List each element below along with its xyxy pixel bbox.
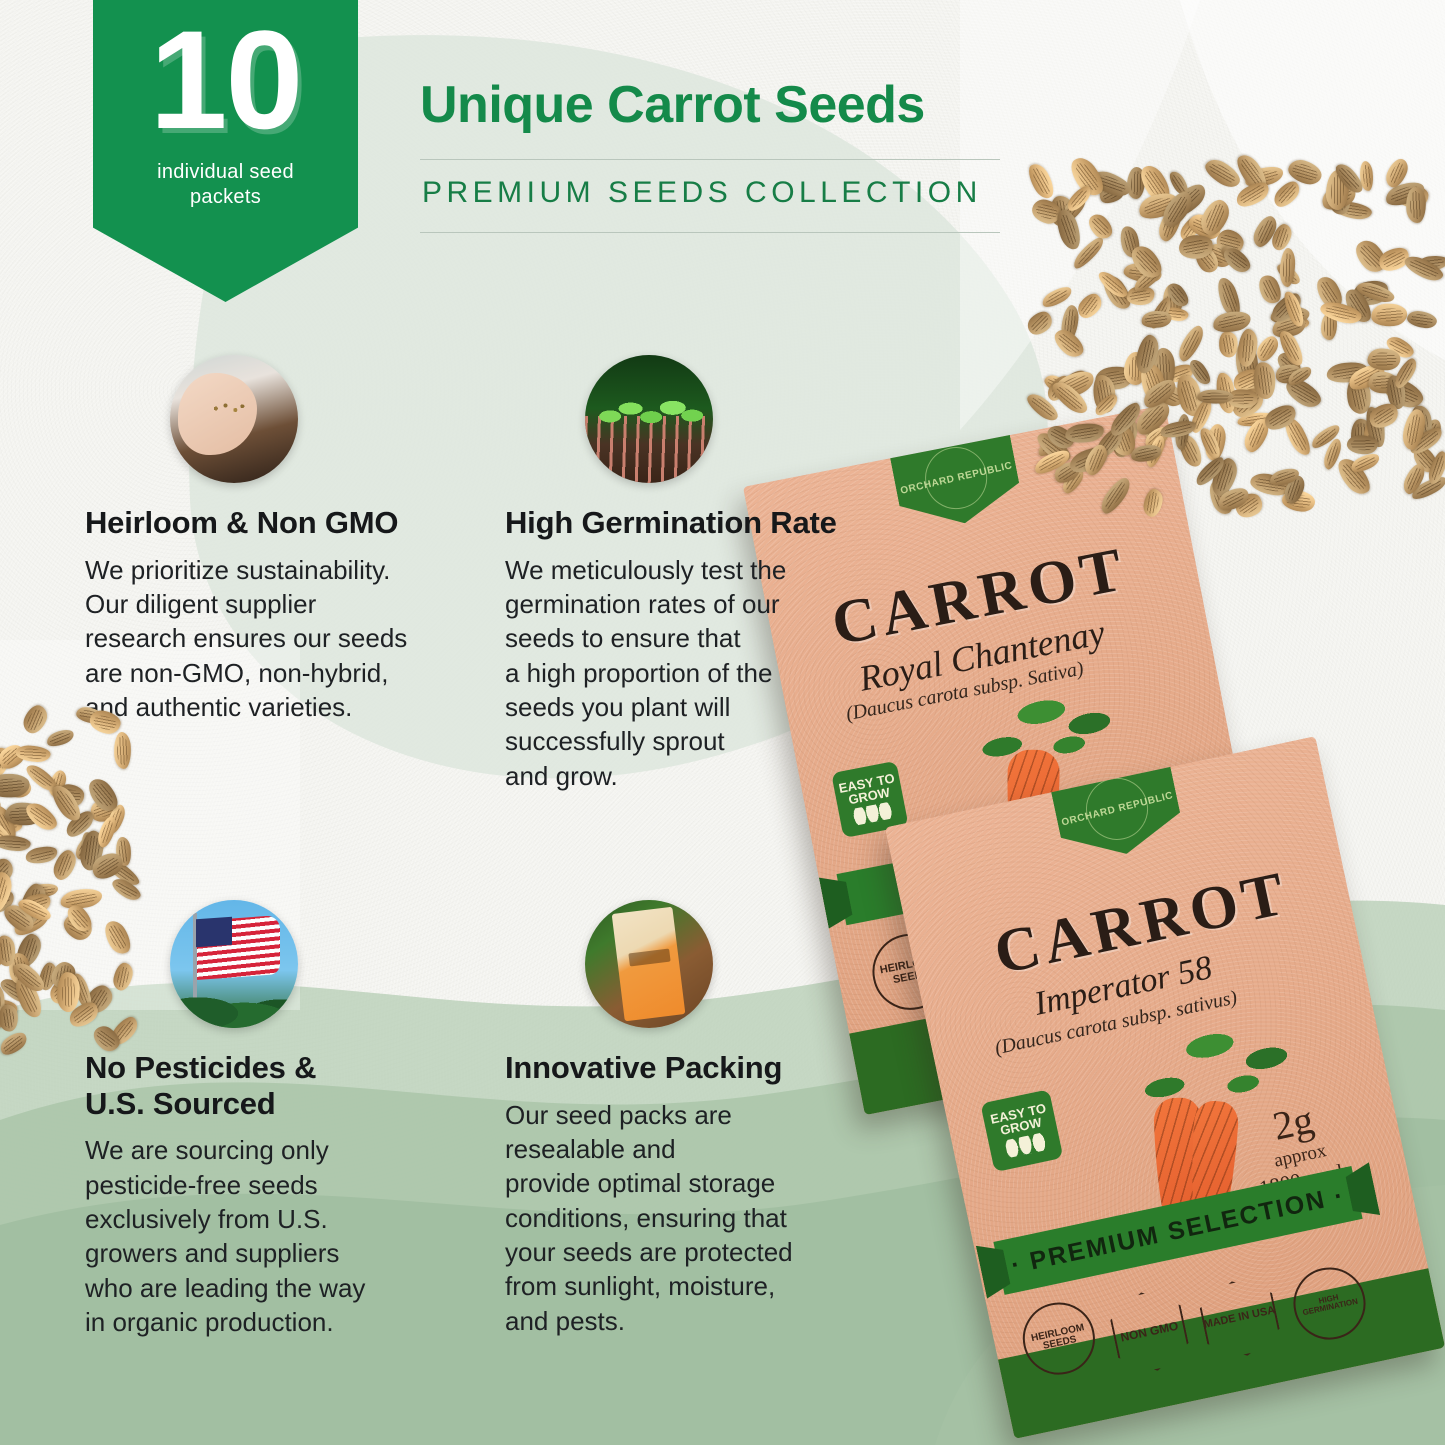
page-title: Unique Carrot Seeds bbox=[420, 78, 1020, 133]
carrot-seed bbox=[1370, 302, 1407, 328]
feature-body-line: provide optimal storage bbox=[505, 1166, 875, 1200]
feature-body-line: seeds to ensure that bbox=[505, 621, 875, 655]
packet-count-caption-line1: individual seed bbox=[157, 161, 294, 183]
feature-body-line: We meticulously test the bbox=[505, 553, 875, 587]
carrot-seed bbox=[1175, 322, 1207, 364]
feature-high-germination-rate: High Germination Rate We meticulously te… bbox=[505, 355, 875, 793]
carrot-seed bbox=[1074, 289, 1106, 323]
feature-body-line: growers and suppliers bbox=[85, 1236, 455, 1270]
feature-body-line: pesticide-free seeds bbox=[85, 1168, 455, 1202]
feature-body-line: successfully sprout bbox=[505, 724, 875, 758]
feature-body-line: are non-GMO, non-hybrid, bbox=[85, 656, 455, 690]
carrot-seed bbox=[1142, 488, 1164, 518]
packet-count-caption-line2: packets bbox=[190, 186, 261, 208]
feature-body: We meticulously test the germination rat… bbox=[505, 553, 875, 793]
badge-label: HIGH GERMINATION bbox=[1295, 1288, 1365, 1319]
carrot-seed bbox=[0, 834, 31, 852]
seed-pack-in-hand-icon bbox=[585, 900, 713, 1028]
feature-body-line: and pests. bbox=[505, 1304, 875, 1338]
feature-title: No Pesticides & U.S. Sourced bbox=[85, 1050, 455, 1121]
feature-body-line: conditions, ensuring that bbox=[505, 1201, 875, 1235]
carrot-seed bbox=[1084, 210, 1117, 243]
badge-label: HEIRLOOM SEEDS bbox=[1023, 1321, 1094, 1356]
feature-body: Our seed packs are resealable and provid… bbox=[505, 1098, 875, 1338]
carrot-seed bbox=[113, 731, 132, 769]
infographic-canvas: 10 individual seed packets Unique Carrot… bbox=[0, 0, 1445, 1445]
carrot-seed bbox=[1052, 206, 1084, 251]
header-block: Unique Carrot Seeds PREMIUM SEEDS COLLEC… bbox=[420, 78, 1020, 233]
easy-to-grow-badge-icon: EASY TO GROW bbox=[980, 1089, 1063, 1172]
packet-count-number: 10 bbox=[150, 10, 302, 150]
feature-body-line: We prioritize sustainability. bbox=[85, 553, 455, 587]
feature-body-line: who are leading the way bbox=[85, 1271, 455, 1305]
carrot-seed bbox=[21, 702, 51, 737]
feature-title: Innovative Packing bbox=[505, 1050, 875, 1086]
feature-title: Heirloom & Non GMO bbox=[85, 505, 455, 541]
carrot-seed bbox=[100, 917, 136, 958]
feature-body-line: a high proportion of the bbox=[505, 656, 875, 690]
feature-title-line2: U.S. Sourced bbox=[85, 1086, 276, 1121]
page-subtitle: PREMIUM SEEDS COLLECTION bbox=[420, 160, 1020, 210]
feature-body-line: your seeds are protected bbox=[505, 1235, 875, 1269]
carrot-seed bbox=[1049, 325, 1087, 361]
feature-body-line: germination rates of our bbox=[505, 587, 875, 621]
feature-body: We are sourcing only pesticide-free seed… bbox=[85, 1133, 455, 1339]
feature-body-line: in organic production. bbox=[85, 1305, 455, 1339]
feature-body-line: resealable and bbox=[505, 1132, 875, 1166]
carrot-seed bbox=[1347, 435, 1379, 454]
feature-body: We prioritize sustainability. Our dilige… bbox=[85, 553, 455, 725]
carrot-seed bbox=[45, 726, 77, 750]
feature-body-line: We are sourcing only bbox=[85, 1133, 455, 1167]
feature-heirloom-non-gmo: Heirloom & Non GMO We prioritize sustain… bbox=[85, 355, 455, 724]
feature-no-pesticides-us-sourced: No Pesticides & U.S. Sourced We are sour… bbox=[85, 900, 455, 1339]
carrot-seed bbox=[1406, 310, 1438, 330]
packet-count-caption: individual seed packets bbox=[157, 160, 294, 210]
sprouting-seedlings-icon bbox=[585, 355, 713, 483]
feature-body-line: and grow. bbox=[505, 759, 875, 793]
feature-title: High Germination Rate bbox=[505, 505, 875, 541]
feature-body-line: Our seed packs are bbox=[505, 1098, 875, 1132]
feature-body-line: Our diligent supplier bbox=[85, 587, 455, 621]
carrot-seed-pile-top bbox=[1030, 150, 1445, 520]
feature-innovative-packing: Innovative Packing Our seed packs are re… bbox=[505, 900, 875, 1338]
carrot-seed bbox=[0, 1028, 30, 1059]
carrot-seed-pile-left bbox=[0, 700, 135, 1060]
feature-body-line: seeds you plant will bbox=[505, 690, 875, 724]
carrot-seed bbox=[111, 962, 134, 993]
carrot-seed bbox=[1024, 160, 1059, 202]
feature-body-line: and authentic varieties. bbox=[85, 690, 455, 724]
feature-body-line: exclusively from U.S. bbox=[85, 1202, 455, 1236]
carrot-seed bbox=[88, 709, 122, 736]
badge-label: NON GMO bbox=[1119, 1319, 1179, 1344]
carrot-seed bbox=[1405, 187, 1427, 224]
feature-body-line: research ensures our seeds bbox=[85, 621, 455, 655]
hand-with-seeds-icon bbox=[170, 355, 298, 483]
feature-body-line: from sunlight, moisture, bbox=[505, 1269, 875, 1303]
header-rule-bottom bbox=[420, 232, 1000, 233]
badge-label: MADE IN USA bbox=[1203, 1305, 1277, 1331]
carrot-seed bbox=[1140, 309, 1172, 330]
usa-flag-icon bbox=[170, 900, 298, 1028]
carrot-seed bbox=[1097, 474, 1134, 517]
